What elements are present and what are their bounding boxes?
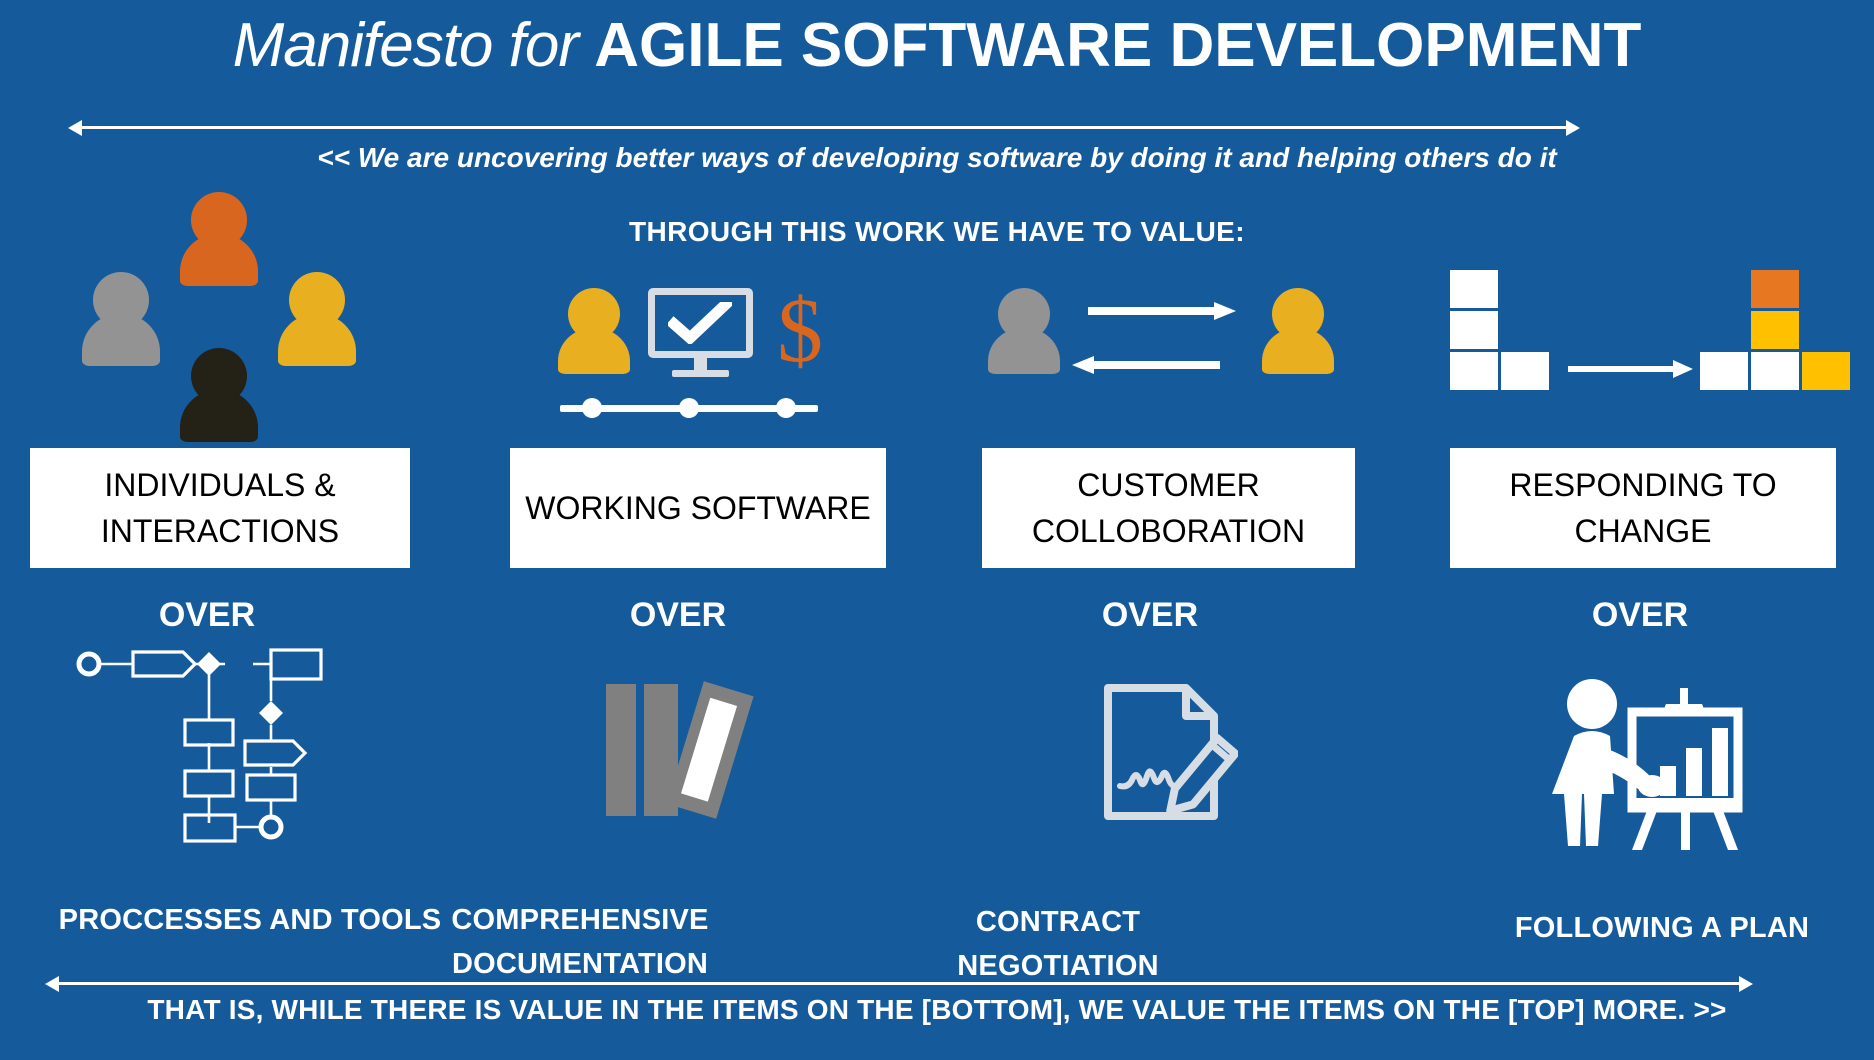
- contract-signature-icon: [1098, 682, 1238, 822]
- arrow-bar: [80, 126, 1568, 129]
- value-line-2: INTERACTIONS: [101, 513, 339, 549]
- person-gray-icon: [82, 272, 160, 366]
- value-box-working-software[interactable]: WORKING SOFTWARE: [510, 448, 886, 568]
- timeline-dot: [776, 398, 796, 418]
- bottom-label-line-1: CONTRACT: [976, 906, 1140, 938]
- value-box-label: INDIVIDUALS & INTERACTIONS: [101, 462, 339, 554]
- bottom-label-line-1: COMPREHENSIVE: [451, 904, 708, 936]
- title-italic-part: Manifesto for: [233, 11, 595, 80]
- person-body: [82, 314, 160, 366]
- top-double-headed-arrow-icon: [68, 116, 1580, 138]
- person-gold-customer-icon: [1262, 288, 1334, 374]
- person-body: [1262, 328, 1334, 374]
- value-box-label: RESPONDING TO CHANGE: [1509, 462, 1776, 554]
- flowchart-icon: [75, 645, 325, 845]
- block-amber: [1802, 352, 1850, 390]
- block-orange: [1751, 270, 1799, 308]
- value-box-label: CUSTOMER COLLOBORATION: [1032, 462, 1305, 554]
- block-white: [1501, 352, 1549, 390]
- arrow-bar: [57, 982, 1741, 985]
- timeline-dot: [679, 398, 699, 418]
- block-white: [1450, 270, 1498, 308]
- person-body: [180, 390, 258, 442]
- arrow-bar: [1090, 361, 1220, 369]
- person-gray-customer-icon: [988, 288, 1060, 374]
- arrow-right-icon: [1088, 302, 1236, 320]
- bottom-double-headed-arrow-icon: [45, 972, 1753, 994]
- value-line-2: COLLOBORATION: [1032, 513, 1305, 549]
- page-title: Manifesto for AGILE SOFTWARE DEVELOPMENT: [0, 6, 1874, 86]
- change-arrow-right-icon: [1568, 360, 1693, 378]
- value-line-2: CHANGE: [1575, 513, 1712, 549]
- presenter-easel-chart-icon: [1548, 670, 1748, 850]
- value-box-customer-collaboration[interactable]: CUSTOMER COLLOBORATION: [982, 448, 1355, 568]
- block-white: [1700, 352, 1748, 390]
- arrow-right-head-icon: [1566, 120, 1580, 136]
- block-white: [1450, 311, 1498, 349]
- bottom-statement-text: THAT IS, WHILE THERE IS VALUE IN THE ITE…: [0, 994, 1874, 1026]
- value-line-1: CUSTOMER: [1077, 467, 1260, 503]
- person-body: [558, 328, 630, 374]
- person-gold-icon: [278, 272, 356, 366]
- value-line-1: INDIVIDUALS &: [104, 467, 335, 503]
- block-white: [1450, 352, 1498, 390]
- value-box-individuals[interactable]: INDIVIDUALS & INTERACTIONS: [30, 448, 410, 568]
- through-this-work-heading: THROUGH THIS WORK WE HAVE TO VALUE:: [0, 216, 1874, 248]
- person-body: [278, 314, 356, 366]
- arrow-head: [1214, 302, 1236, 320]
- infographic-canvas: Manifesto for AGILE SOFTWARE DEVELOPMENT…: [0, 0, 1874, 1060]
- arrow-head: [1072, 356, 1094, 374]
- value-line-1: RESPONDING TO: [1509, 467, 1776, 503]
- arrow-head: [1673, 360, 1693, 378]
- person-dark-icon: [180, 348, 258, 442]
- title-bold-part: AGILE SOFTWARE DEVELOPMENT: [594, 11, 1641, 80]
- dollar-sign-icon: $: [770, 280, 830, 380]
- over-label-3: OVER: [1000, 596, 1300, 635]
- books-icon: [600, 680, 760, 820]
- person-body: [180, 234, 258, 286]
- timeline-icon: [560, 398, 818, 418]
- person-orange-icon: [180, 192, 258, 286]
- blocks-after-icon: [1700, 270, 1874, 390]
- over-label-4: OVER: [1490, 596, 1790, 635]
- value-box-responding-to-change[interactable]: RESPONDING TO CHANGE: [1450, 448, 1836, 568]
- over-label-2: OVER: [528, 596, 828, 635]
- block-amber: [1751, 311, 1799, 349]
- subtitle-text: << We are uncovering better ways of deve…: [0, 142, 1874, 174]
- block-white: [1751, 352, 1799, 390]
- person-gold-working-icon: [558, 288, 630, 374]
- arrow-bar: [1088, 307, 1218, 315]
- monitor-check-icon: [648, 288, 753, 380]
- over-label-1: OVER: [57, 596, 357, 635]
- arrow-left-icon: [1072, 356, 1220, 374]
- arrow-right-head-icon: [1739, 976, 1753, 992]
- arrow-bar: [1568, 366, 1679, 372]
- monitor-base: [672, 370, 729, 377]
- checkmark-icon: [668, 302, 732, 344]
- person-body: [988, 328, 1060, 374]
- value-box-label: WORKING SOFTWARE: [525, 485, 870, 531]
- timeline-dot: [582, 398, 602, 418]
- bottom-label-following-a-plan: FOLLOWING A PLAN: [1452, 906, 1872, 950]
